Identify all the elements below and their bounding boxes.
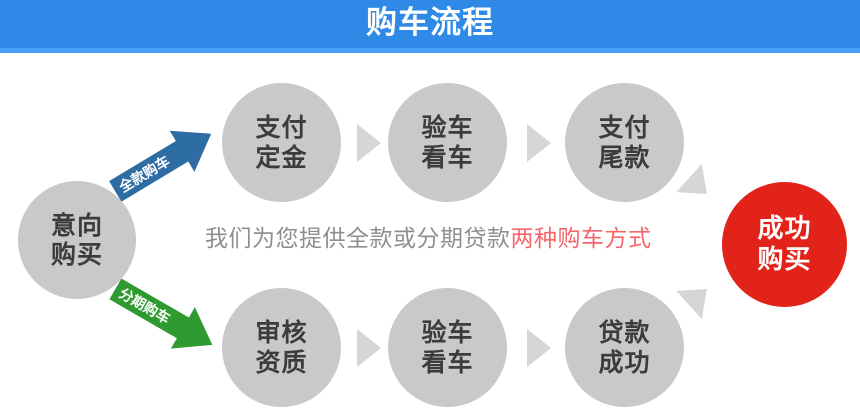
branch-arrow-installment: 分期购车: [103, 268, 224, 366]
node-purchase-success-line1: 成功: [757, 214, 811, 245]
arrow-triangle-merge-top: [676, 164, 719, 208]
branch-arrow-full-payment: 全款购车: [103, 113, 224, 212]
node-pay-balance: 支付 尾款: [565, 83, 684, 202]
arrow-triangle-top-1: [357, 124, 381, 162]
node-intent: 意向 购买: [18, 181, 136, 299]
node-inspect-car-bottom-line1: 验车: [421, 318, 473, 348]
node-inspect-car-top-line2: 看车: [421, 143, 473, 173]
node-pay-deposit-line2: 定金: [255, 143, 307, 173]
node-review-qualification: 审核 资质: [222, 288, 341, 407]
caption-highlight-text: 两种购车方式: [511, 226, 652, 252]
node-review-qualification-line2: 资质: [255, 348, 307, 378]
branch-label-installment: 分期购车: [103, 268, 224, 366]
center-caption: 我们为您提供全款或分期贷款两种购车方式: [205, 222, 705, 256]
arrow-triangle-top-2: [527, 124, 551, 162]
node-pay-deposit-line1: 支付: [255, 113, 307, 143]
node-loan-approved: 贷款 成功: [565, 288, 684, 407]
node-pay-balance-line2: 尾款: [598, 143, 650, 173]
page-title: 购车流程: [0, 0, 860, 48]
node-loan-approved-line2: 成功: [598, 348, 650, 378]
caption-normal-text: 我们为您提供全款或分期贷款: [205, 226, 511, 252]
node-purchase-success: 成功 购买: [722, 182, 847, 307]
node-intent-line1: 意向: [51, 211, 103, 241]
node-pay-balance-line1: 支付: [598, 113, 650, 143]
node-inspect-car-top: 验车 看车: [388, 83, 507, 202]
node-loan-approved-line1: 贷款: [598, 318, 650, 348]
node-purchase-success-line2: 购买: [757, 245, 811, 276]
header-underline: [0, 48, 860, 53]
node-intent-line2: 购买: [51, 240, 103, 270]
arrow-triangle-bottom-1: [357, 329, 381, 367]
node-pay-deposit: 支付 定金: [222, 83, 341, 202]
arrow-triangle-bottom-2: [527, 329, 551, 367]
node-inspect-car-bottom-line2: 看车: [421, 348, 473, 378]
purchase-flow-infographic: 购车流程 全款购车 分期购车 意向 购买 支付 定金 验车 看车 支付 尾款 审…: [0, 0, 860, 412]
node-inspect-car-bottom: 验车 看车: [388, 288, 507, 407]
arrow-triangle-merge-bottom: [676, 275, 719, 319]
node-inspect-car-top-line1: 验车: [421, 113, 473, 143]
node-review-qualification-line1: 审核: [255, 318, 307, 348]
branch-label-full-payment: 全款购车: [103, 113, 224, 212]
